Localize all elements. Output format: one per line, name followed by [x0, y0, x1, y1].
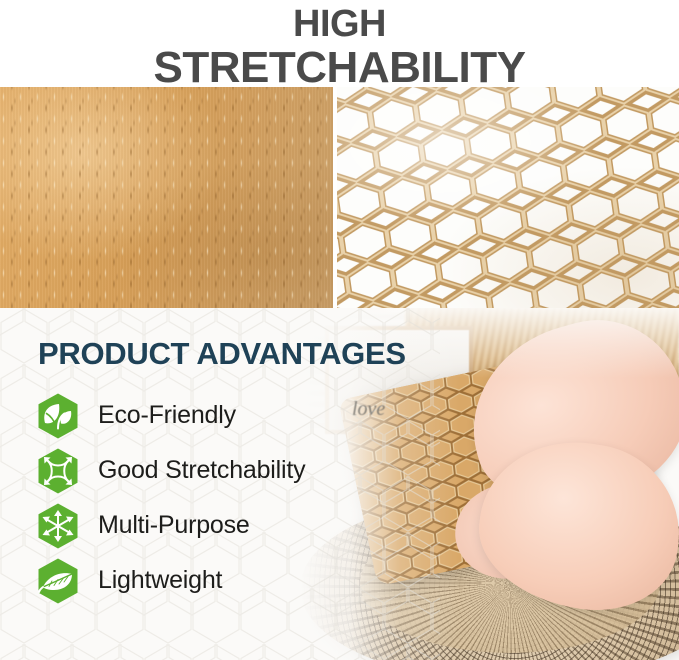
product-infographic: HIGH STRETCHABILITY [0, 0, 679, 660]
header-banner: HIGH STRETCHABILITY [0, 0, 679, 87]
advantage-item-stretchability: Good Stretchability [34, 443, 434, 498]
mesh-lattice [337, 87, 679, 308]
advantage-label: Eco-Friendly [98, 401, 236, 430]
header-title-line1: HIGH [0, 0, 679, 43]
advantage-label: Lightweight [98, 566, 222, 595]
leaf-icon [34, 392, 82, 440]
photo-unexpanded-kraft-honeycomb [0, 87, 333, 308]
advantage-item-eco-friendly: Eco-Friendly [34, 388, 434, 443]
header-title-line2: STRETCHABILITY [0, 43, 679, 90]
feather-icon [34, 557, 82, 605]
advantage-label: Good Stretchability [98, 456, 305, 485]
advantages-heading: PRODUCT ADVANTAGES [38, 336, 406, 372]
comparison-photo-strip [0, 87, 679, 308]
photo-expanded-honeycomb-mesh [337, 87, 679, 308]
multi-direction-arrows-icon [34, 502, 82, 550]
advantage-item-multi-purpose: Multi-Purpose [34, 498, 434, 553]
advantage-item-lightweight: Lightweight [34, 553, 434, 608]
advantage-label: Multi-Purpose [98, 511, 250, 540]
stretch-arrows-icon [34, 447, 82, 495]
advantages-list: Eco-Friendly [34, 388, 434, 608]
kraft-grain-layer [0, 87, 333, 308]
